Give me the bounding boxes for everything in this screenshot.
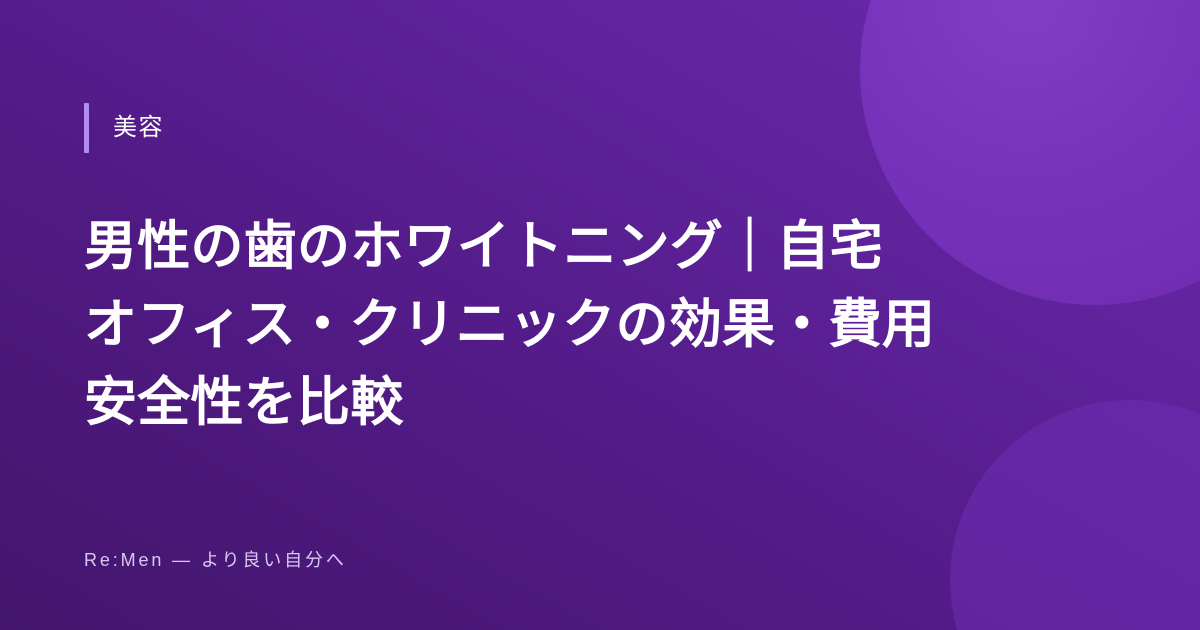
category-label: 美容 — [113, 116, 164, 140]
title-line-1: 男性の歯のホワイトニング｜自宅 — [84, 208, 1116, 286]
og-image-card: 美容 男性の歯のホワイトニング｜自宅 オフィス・クリニックの効果・費用 安全性を… — [0, 0, 1200, 630]
category-badge: 美容 — [84, 103, 1116, 153]
page-title: 男性の歯のホワイトニング｜自宅 オフィス・クリニックの効果・費用 安全性を比較 — [84, 208, 1116, 442]
title-line-2: オフィス・クリニックの効果・費用 — [84, 286, 1116, 364]
category-accent-bar — [84, 103, 89, 153]
layout-spacer — [84, 442, 1116, 546]
card-content: 美容 男性の歯のホワイトニング｜自宅 オフィス・クリニックの効果・費用 安全性を… — [0, 0, 1200, 630]
site-branding-tagline: Re:Men — より良い自分へ — [84, 546, 1116, 572]
title-line-3: 安全性を比較 — [84, 364, 1116, 442]
